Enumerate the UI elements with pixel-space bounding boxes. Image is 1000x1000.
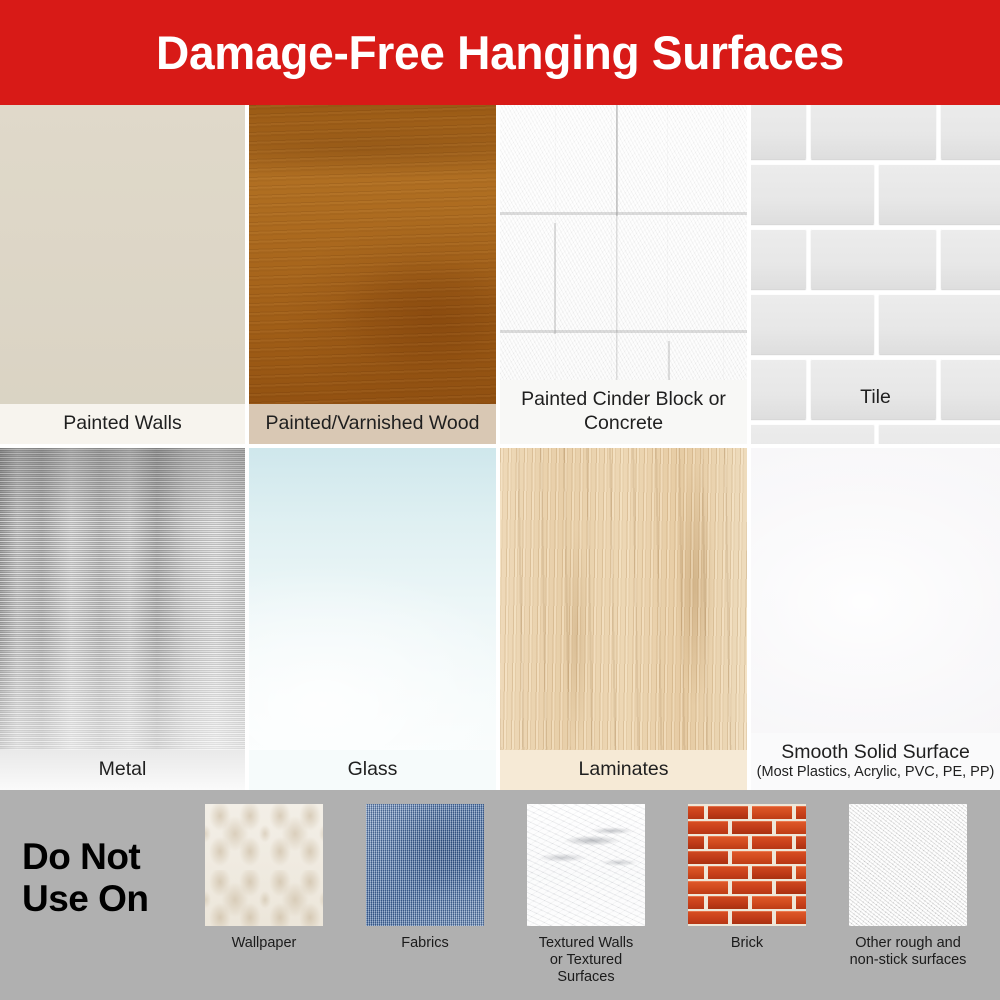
do-not-use-label-textured-walls: Textured Walls or Textured Surfaces — [527, 935, 645, 986]
do-not-use-title-line2: Use On — [22, 878, 197, 920]
fabrics-label-line1: Fabrics — [366, 935, 484, 952]
header-banner: Damage-Free Hanging Surfaces — [0, 0, 1000, 105]
brick-texture — [688, 804, 806, 926]
do-not-use-item-brick: Brick — [688, 804, 806, 952]
surface-tile-varnished-wood: Painted/Varnished Wood — [249, 105, 496, 444]
surface-tile-painted-walls: Painted Walls — [0, 105, 245, 444]
surface-tile-cinder-block: Painted Cinder Block or Concrete — [500, 105, 747, 444]
laminate-texture — [500, 448, 747, 790]
do-not-use-label-wallpaper: Wallpaper — [205, 935, 323, 952]
do-not-use-title: Do Not Use On — [22, 836, 197, 920]
surface-tile-metal: Metal — [0, 448, 245, 790]
fabric-texture — [366, 804, 484, 926]
surface-tile-smooth-solid: Smooth Solid Surface (Most Plastics, Acr… — [751, 448, 1000, 790]
rough-label-line1: Other rough and — [849, 935, 967, 952]
surface-label-painted-walls: Painted Walls — [0, 404, 245, 444]
do-not-use-item-textured-walls: Textured Walls or Textured Surfaces — [527, 804, 645, 986]
do-not-use-label-brick: Brick — [688, 935, 806, 952]
smooth-solid-title: Smooth Solid Surface — [781, 741, 970, 763]
surface-label-cinder-block: Painted Cinder Block or Concrete — [500, 380, 747, 444]
do-not-use-label-rough-surfaces: Other rough and non-stick surfaces — [849, 935, 967, 969]
do-not-use-item-rough-surfaces: Other rough and non-stick surfaces — [849, 804, 967, 969]
brick-label-line1: Brick — [688, 935, 806, 952]
do-not-use-label-fabrics: Fabrics — [366, 935, 484, 952]
do-not-use-title-line1: Do Not — [22, 836, 197, 878]
rough-label-line2: non-stick surfaces — [849, 952, 967, 969]
do-not-use-item-wallpaper: Wallpaper — [205, 804, 323, 952]
surface-label-varnished-wood: Painted/Varnished Wood — [249, 404, 496, 444]
wallpaper-label-line1: Wallpaper — [205, 935, 323, 952]
surface-label-glass: Glass — [249, 750, 496, 790]
textured-walls-label-line2: or Textured Surfaces — [527, 952, 645, 986]
rough-surface-texture — [849, 804, 967, 926]
varnished-wood-texture — [249, 105, 496, 444]
smooth-solid-subtitle: (Most Plastics, Acrylic, PVC, PE, PP) — [755, 763, 996, 781]
do-not-use-section: Do Not Use On Wallpaper Fabrics Textured… — [0, 790, 1000, 1000]
surface-tile-glass: Glass — [249, 448, 496, 790]
painted-wall-texture — [0, 105, 245, 444]
wallpaper-texture — [205, 804, 323, 926]
surface-label-tile: Tile — [751, 378, 1000, 418]
glass-texture — [249, 448, 496, 790]
textured-wall-texture — [527, 804, 645, 926]
brushed-metal-texture — [0, 448, 245, 790]
surface-tile-laminates: Laminates — [500, 448, 747, 790]
do-not-use-item-fabrics: Fabrics — [366, 804, 484, 952]
surface-tile-tile: Tile — [751, 105, 1000, 444]
infographic-page: Damage-Free Hanging Surfaces Painted Wal… — [0, 0, 1000, 1000]
surface-label-smooth-solid: Smooth Solid Surface (Most Plastics, Acr… — [751, 733, 1000, 790]
surface-label-metal: Metal — [0, 750, 245, 790]
approved-surfaces-grid: Painted Walls Painted/Varnished Wood Pai… — [0, 105, 1000, 790]
surface-label-laminates: Laminates — [500, 750, 747, 790]
textured-walls-label-line1: Textured Walls — [527, 935, 645, 952]
page-title: Damage-Free Hanging Surfaces — [156, 29, 844, 76]
